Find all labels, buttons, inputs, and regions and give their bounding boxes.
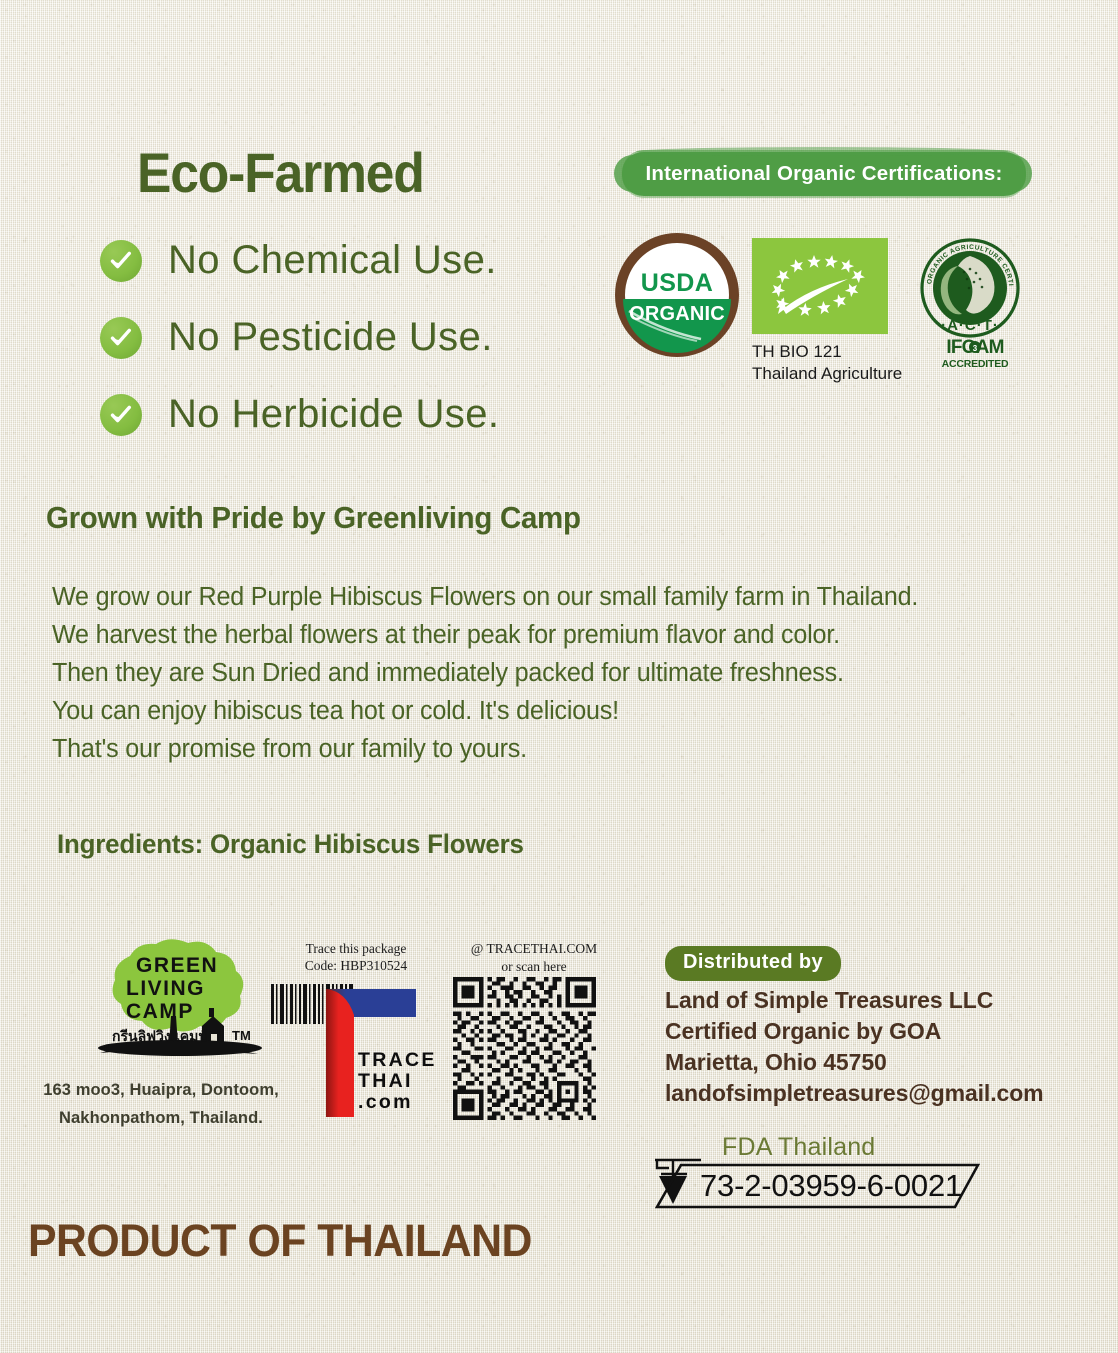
qr-caption-line-1: @ TRACETHAI.COM [444, 940, 624, 958]
distributed-by-badge: Distributed by [665, 946, 841, 981]
svg-text:·A·C·T·: ·A·C·T· [941, 317, 999, 334]
tracethai-wordmark: TRACE THAI .com [358, 1050, 437, 1113]
svg-text:CAMP: CAMP [126, 1000, 194, 1023]
trace-caption-line-1: Trace this package [286, 940, 426, 957]
ifoam-accredited-icon: IFOAM 3 ACCREDITED [932, 336, 1018, 370]
eu-bio-code-block: TH BIO 121 Thailand Agriculture [752, 341, 902, 386]
ingredients-label: Ingredients: Organic Hibiscus Flowers [57, 829, 524, 860]
act-certification-seal-icon: ORGANIC AGRICULTURE CERTIFICATION THAILA… [918, 236, 1022, 340]
claim-label: No Pesticide Use. [168, 315, 493, 360]
story-body: We grow our Red Purple Hibiscus Flowers … [52, 578, 1092, 768]
svg-text:กรีนลิฟวิงแคมป์: กรีนลิฟวิงแคมป์ [112, 1028, 207, 1044]
trace-caption-line-2: Code: HBP310524 [286, 957, 426, 974]
eu-bio-authority: Thailand Agriculture [752, 363, 902, 385]
certifications-banner: International Organic Certifications: [622, 152, 1026, 196]
page-title: Eco-Farmed [137, 140, 424, 205]
tracethai-word-3: .com [358, 1092, 437, 1113]
story-line: That's our promise from our family to yo… [52, 730, 1076, 768]
svg-text:3: 3 [973, 344, 978, 353]
trace-caption: Trace this package Code: HBP310524 [286, 940, 426, 975]
farm-address-line-1: 163 moo3, Huaipra, Dontoom, [36, 1076, 286, 1104]
claim-row-no-herbicide: No Herbicide Use. [100, 392, 499, 437]
tracethai-word-2: THAI [358, 1071, 437, 1092]
story-line: We grow our Red Purple Hibiscus Flowers … [52, 578, 1076, 616]
check-circle-icon [100, 240, 142, 282]
farm-address-line-2: Nakhonpathom, Thailand. [36, 1104, 286, 1132]
farm-address: 163 moo3, Huaipra, Dontoom, Nakhonpathom… [36, 1076, 286, 1132]
check-circle-icon [100, 317, 142, 359]
svg-text:LIVING: LIVING [126, 977, 205, 1000]
svg-text:ORGANIC: ORGANIC [629, 303, 725, 325]
story-line: We harvest the herbal flowers at their p… [52, 616, 1076, 654]
distributor-details: Land of Simple Treasures LLC Certified O… [665, 985, 1044, 1109]
story-heading: Grown with Pride by Greenliving Camp [46, 500, 581, 536]
svg-text:ACCREDITED: ACCREDITED [942, 358, 1009, 370]
distributor-name: Land of Simple Treasures LLC [665, 985, 1044, 1016]
eu-bio-code: TH BIO 121 [752, 341, 902, 363]
distributor-certification: Certified Organic by GOA [665, 1016, 1044, 1047]
story-line: Then they are Sun Dried and immediately … [52, 654, 1076, 692]
product-origin-label: PRODUCT OF THAILAND [28, 1215, 532, 1267]
qr-code-icon[interactable] [442, 977, 607, 1120]
qr-caption: @ TRACETHAI.COM or scan here [444, 940, 624, 975]
qr-caption-line-2: or scan here [444, 958, 624, 976]
claim-row-no-pesticide: No Pesticide Use. [100, 315, 493, 360]
story-line: You can enjoy hibiscus tea hot or cold. … [52, 692, 1076, 730]
tracethai-word-1: TRACE [358, 1050, 437, 1071]
fda-registration-number: 73-2-03959-6-0021 [700, 1168, 962, 1204]
claim-label: No Herbicide Use. [168, 392, 499, 437]
claim-row-no-chemical: No Chemical Use. [100, 238, 497, 283]
svg-text:USDA: USDA [641, 269, 713, 297]
certifications-banner-label: International Organic Certifications: [622, 152, 1026, 196]
check-circle-icon [100, 394, 142, 436]
claim-label: No Chemical Use. [168, 238, 497, 283]
fda-thailand-title: FDA Thailand [722, 1133, 875, 1162]
distributor-city-state-zip: Marietta, Ohio 45750 [665, 1047, 1044, 1078]
svg-text:TM: TM [232, 1028, 251, 1043]
eu-organic-leaf-icon [752, 238, 888, 334]
distributor-email: landofsimpletreasures@gmail.com [665, 1078, 1044, 1109]
green-living-camp-logo-icon: GREEN LIVING CAMP กรีนลิฟวิงแคมป์ TM [92, 938, 267, 1063]
svg-text:GREEN: GREEN [136, 954, 218, 977]
usda-organic-seal-icon: USDA ORGANIC [615, 233, 739, 357]
